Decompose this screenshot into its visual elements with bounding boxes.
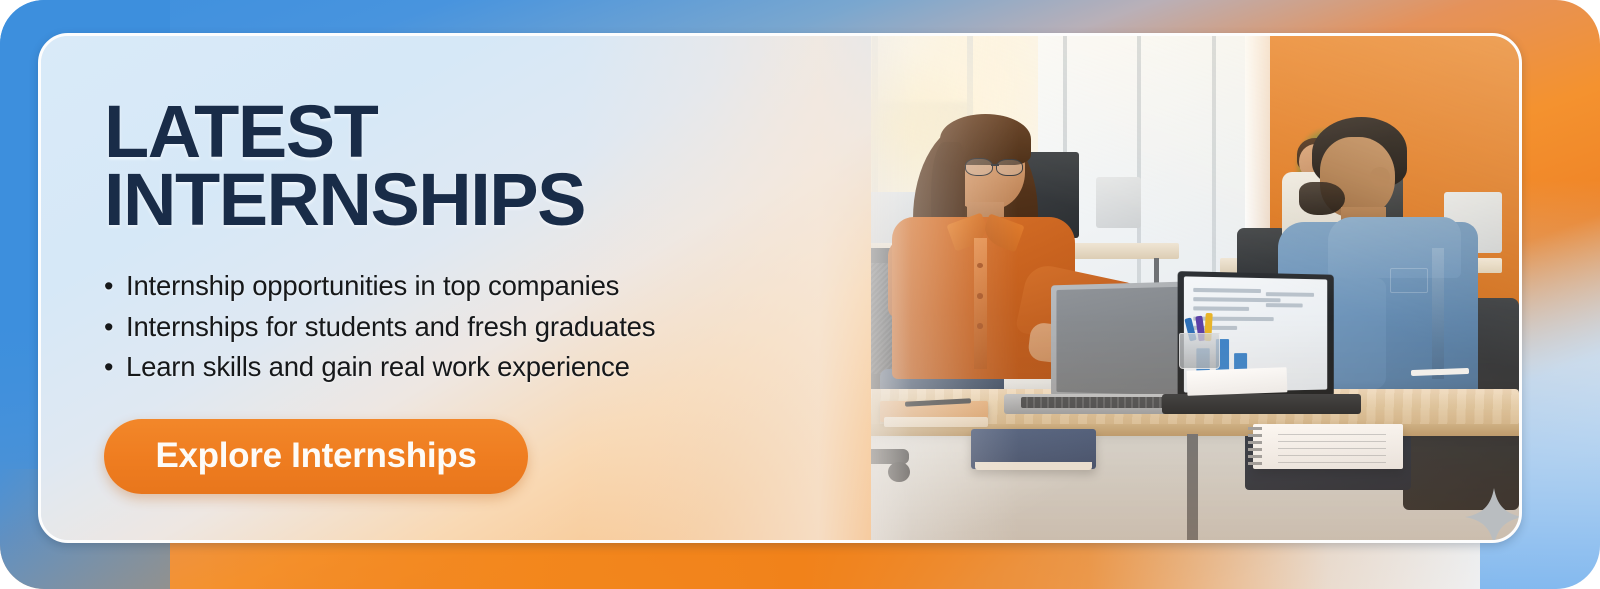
list-item: • Learn skills and gain real work experi…	[104, 347, 801, 388]
promo-card: LATEST INTERNSHIPS • Internship opportun…	[38, 33, 1522, 543]
banner-frame: LATEST INTERNSHIPS • Internship opportun…	[0, 0, 1600, 589]
list-item-label: Internship opportunities in top companie…	[126, 266, 619, 306]
office-photo	[689, 36, 1519, 540]
bullet-icon: •	[104, 308, 122, 348]
feature-list: • Internship opportunities in top compan…	[104, 266, 801, 388]
banner-content: LATEST INTERNSHIPS • Internship opportun…	[41, 36, 801, 540]
list-item-label: Internships for students and fresh gradu…	[126, 307, 655, 347]
list-item: • Internship opportunities in top compan…	[104, 266, 801, 307]
bullet-icon: •	[104, 267, 122, 307]
bullet-icon: •	[104, 348, 122, 388]
list-item-label: Learn skills and gain real work experien…	[126, 347, 630, 387]
warm-bottom-grade	[689, 313, 1519, 540]
list-item: • Internships for students and fresh gra…	[104, 307, 801, 348]
explore-internships-button[interactable]: Explore Internships	[104, 419, 528, 494]
page-title: LATEST INTERNSHIPS	[104, 98, 704, 234]
